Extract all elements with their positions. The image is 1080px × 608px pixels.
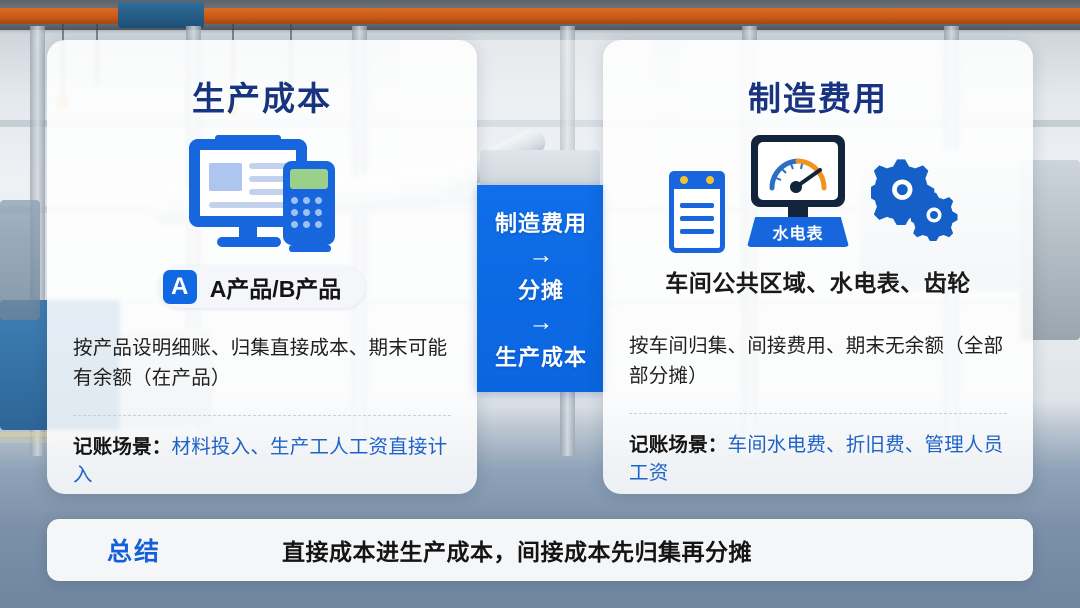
right-card-divider [629, 413, 1007, 414]
left-card-body: 按产品设明细账、归集直接成本、期末可能有余额（在产品） [73, 334, 451, 393]
summary-label: 总结 [107, 532, 161, 568]
calculator-key [303, 197, 310, 204]
right-card-scene: 记账场景：车间水电费、折旧费、管理人员工资 [629, 432, 1007, 487]
summary-text: 直接成本进生产成本，间接成本先归集再分摊 [161, 533, 873, 567]
product-pill[interactable]: A A产品/B产品 [159, 266, 366, 308]
allocation-flow-band: 制造费用 → 分摊 → 生产成本 [477, 185, 605, 392]
meter-base-label: 水电表 [772, 220, 823, 244]
flow-arrow-down-icon: → [529, 310, 554, 335]
calculator-key [303, 221, 310, 228]
machine-unit [0, 200, 40, 320]
calculator-keypad [291, 197, 327, 228]
calculator-key [291, 209, 298, 216]
ledger-binder-hole [706, 176, 714, 184]
right-scene-label: 记账场景： [629, 434, 728, 456]
right-card-body: 按车间归集、间接费用、期末无余额（全部部分摊） [629, 332, 1007, 391]
gear-small-icon [911, 191, 961, 241]
document-thumbnail [209, 163, 242, 191]
calculator-screen [290, 169, 328, 189]
ledger-line [680, 216, 714, 221]
left-scene-label: 记账场景： [73, 436, 172, 458]
calculator-key [303, 209, 310, 216]
ledger-header [669, 171, 725, 189]
product-pill-wrap: A A产品/B产品 [47, 266, 477, 308]
meter-gauge-face [758, 142, 838, 200]
product-badge-letter: A [163, 270, 197, 304]
calculator-key [315, 197, 322, 204]
document-text-line [209, 202, 293, 208]
calculator-key [315, 209, 322, 216]
meter-stand [788, 205, 808, 219]
crane-motor-box [118, 2, 204, 28]
card-manufacturing-overhead: 制造费用 [603, 40, 1033, 494]
utility-meter-icon: 水电表 [739, 135, 857, 253]
left-card-scene: 记账场景：材料投入、生产工人工资直接计入 [73, 434, 451, 489]
meter-base-plate: 水电表 [747, 217, 849, 247]
ledger-line [680, 229, 714, 234]
gears-icon [871, 153, 967, 253]
calculator-icon [283, 161, 335, 245]
left-card-icon-row [47, 128, 477, 260]
flow-arrow-down-icon: → [529, 243, 554, 268]
ledger-icon [669, 171, 725, 253]
right-card-icon-row: 水电表 [603, 128, 1033, 260]
calculator-key [315, 221, 322, 228]
monitor-document-icon [187, 135, 337, 253]
product-pill-label: A产品/B产品 [210, 270, 342, 304]
infographic-stage: 生产成本 [0, 0, 1080, 608]
summary-bar: 总结 直接成本进生产成本，间接成本先归集再分摊 [47, 519, 1033, 581]
left-card-divider [73, 415, 451, 416]
flow-step-manufacturing-overhead: 制造费用 [495, 206, 587, 238]
gauge-dial-icon [758, 142, 838, 200]
calculator-key [291, 197, 298, 204]
right-card-subtitle: 车间公共区域、水电表、齿轮 [603, 264, 1033, 298]
monitor-base [217, 237, 281, 247]
meter-screen-frame [751, 135, 845, 207]
right-icon-group: 水电表 [669, 135, 967, 253]
card-production-cost: 生产成本 [47, 40, 477, 494]
monitor-top-bar [215, 135, 281, 148]
left-card-title: 生产成本 [47, 72, 477, 120]
flow-step-allocate: 分摊 [518, 273, 564, 305]
calculator-key [291, 221, 298, 228]
flow-step-production-cost: 生产成本 [495, 340, 587, 372]
ledger-binder-hole [680, 176, 688, 184]
ledger-line [680, 203, 714, 208]
right-card-title: 制造费用 [603, 72, 1033, 120]
calculator-base [289, 245, 331, 252]
